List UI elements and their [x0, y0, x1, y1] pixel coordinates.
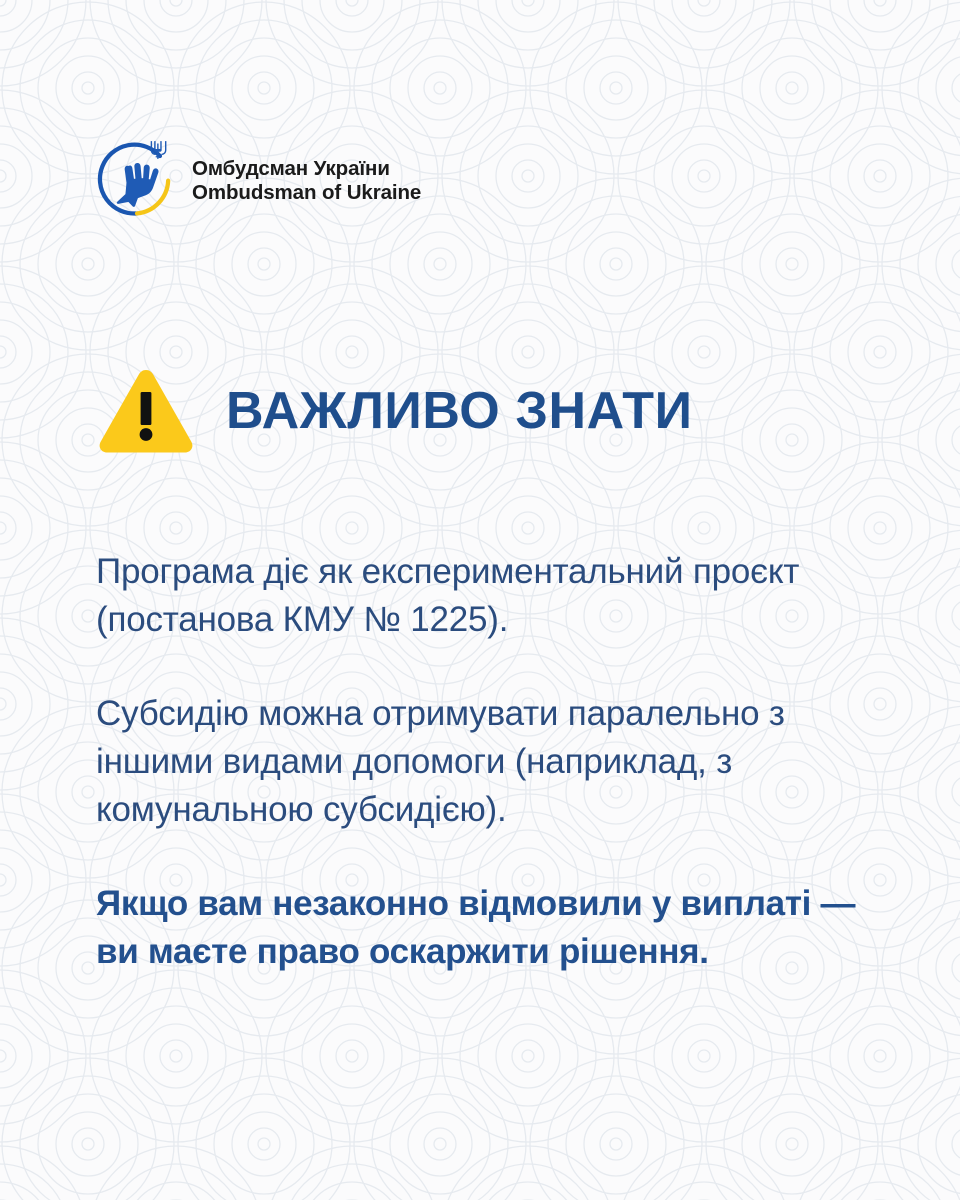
- infographic-card: Омбудсман України Ombudsman of Ukraine В…: [0, 0, 960, 1200]
- ombudsman-logo-lockup: Омбудсман України Ombudsman of Ukraine: [96, 138, 421, 220]
- warning-triangle-icon: [96, 366, 196, 458]
- ombudsman-hand-dove-emblem-icon: [96, 138, 178, 220]
- wordmark-line-uk: Омбудсман України: [192, 157, 421, 181]
- paragraph-right-to-appeal: Якщо вам незаконно відмовили у виплаті —…: [96, 880, 886, 976]
- headline-block: ВАЖЛИВО ЗНАТИ: [96, 366, 693, 458]
- paragraph-experimental-project: Програма діє як експериментальний проєкт…: [96, 548, 886, 644]
- page-title: ВАЖЛИВО ЗНАТИ: [226, 385, 693, 439]
- ombudsman-wordmark: Омбудсман України Ombudsman of Ukraine: [192, 153, 421, 205]
- body-copy: Програма діє як експериментальний проєкт…: [96, 548, 886, 976]
- wordmark-line-en: Ombudsman of Ukraine: [192, 181, 421, 205]
- paragraph-parallel-assistance: Субсидію можна отримувати паралельно з і…: [96, 690, 886, 834]
